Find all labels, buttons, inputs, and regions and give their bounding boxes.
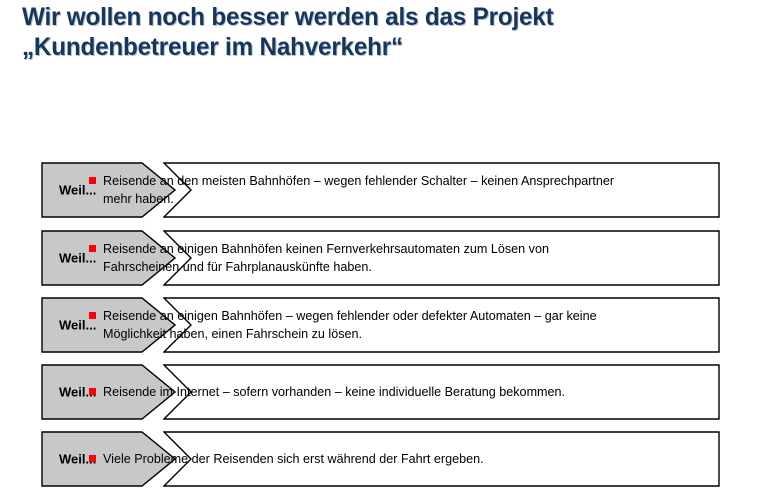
reason-text: Reisende an einigen Bahnhöfen keinen Fer… xyxy=(103,242,549,274)
reason-text-wrap: Reisende im Internet – sofern vorhanden … xyxy=(89,364,617,420)
reason-text: Reisende an einigen Bahnhöfen – wegen fe… xyxy=(103,309,597,341)
reason-list: Weil... Reisende an den meisten Bahnhöfe… xyxy=(0,0,770,492)
reason-text-wrap: Reisende an einigen Bahnhöfen keinen Fer… xyxy=(89,230,617,286)
list-item[interactable]: Weil... Reisende an den meisten Bahnhöfe… xyxy=(41,162,747,218)
bullet-square-icon xyxy=(89,455,96,462)
list-item[interactable]: Weil... Reisende an einigen Bahnhöfen ke… xyxy=(41,230,747,286)
list-item[interactable]: Weil... Reisende im Internet – sofern vo… xyxy=(41,364,747,420)
list-item[interactable]: Weil... Viele Probleme der Reisenden sic… xyxy=(41,431,747,487)
reason-text-wrap: Reisende an einigen Bahnhöfen – wegen fe… xyxy=(89,297,617,353)
bullet-square-icon xyxy=(89,177,96,184)
reason-text: Reisende an den meisten Bahnhöfen – wege… xyxy=(103,174,614,206)
reason-text: Viele Probleme der Reisenden sich erst w… xyxy=(103,452,484,466)
bullet-square-icon xyxy=(89,245,96,252)
reason-text: Reisende im Internet – sofern vorhanden … xyxy=(103,385,565,399)
bullet-square-icon xyxy=(89,388,96,395)
reason-text-wrap: Viele Probleme der Reisenden sich erst w… xyxy=(89,431,617,487)
bullet-square-icon xyxy=(89,312,96,319)
reason-text-wrap: Reisende an den meisten Bahnhöfen – wege… xyxy=(89,162,617,218)
list-item[interactable]: Weil... Reisende an einigen Bahnhöfen – … xyxy=(41,297,747,353)
